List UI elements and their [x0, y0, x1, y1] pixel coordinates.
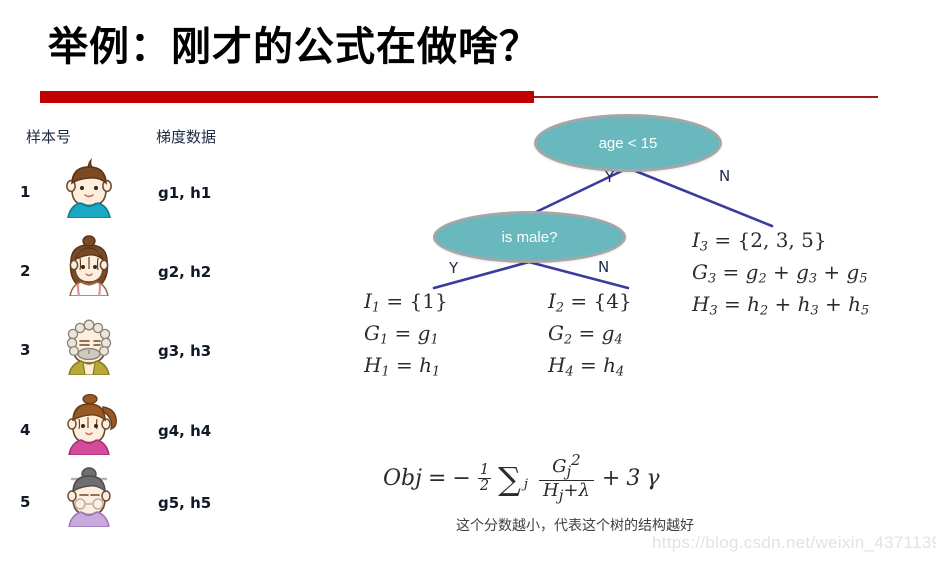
leaf-3-sum-g: g2 + g3 + g5 [746, 260, 868, 284]
tree-node-is-male-label: is male? [502, 229, 558, 246]
girl-avatar [58, 234, 120, 296]
objective-minus: − [452, 466, 470, 491]
edge-label-root-no: N [719, 167, 730, 185]
objective-denominator: Hj+λ [539, 480, 594, 504]
table-row: 4 [20, 421, 30, 439]
tree-node-root[interactable]: age < 15 [534, 114, 722, 172]
leaf-group-1-formula: I1 = {1} G1 = g1 H1 = h1 [364, 286, 448, 382]
objective-numerator: Gj2 [548, 452, 585, 480]
edge-label-child-no: N [598, 258, 609, 276]
leaf-3-line-3: H3 = h2 + h3 + h5 [692, 289, 869, 321]
slide-canvas: 举例：刚才的公式在做啥？ 样本号 梯度数据 1 g1, h1 2 [0, 0, 936, 561]
leaf-1-line-3: H1 = h1 [364, 350, 448, 382]
leaf-2-line-2: G2 = g4 [548, 318, 632, 350]
boy-avatar [58, 156, 120, 218]
column-header-sample-id: 样本号 [26, 126, 71, 147]
leaf-3-line-1: I3 = {2, 3, 5} [692, 225, 869, 257]
objective-caption: 这个分数越小，代表这个树的结构越好 [456, 515, 694, 535]
tree-node-is-male[interactable]: is male? [433, 211, 626, 263]
table-row: 5 [20, 493, 30, 511]
leaf-3-sum-h: h2 + h3 + h5 [747, 292, 869, 316]
objective-main-fraction: Gj2 Hj+λ [539, 452, 594, 505]
gradient-value: g4, h4 [158, 422, 211, 440]
title-underline-accent [40, 91, 534, 103]
gradient-value: g3, h3 [158, 342, 211, 360]
table-row: 1 [20, 183, 30, 201]
old-man-avatar [58, 313, 120, 375]
leaf-1-line-1: I1 = {1} [364, 286, 448, 318]
leaf-group-3-formula: I3 = {2, 3, 5} G3 = g2 + g3 + g5 H3 = h2… [692, 225, 869, 321]
leaf-2-line-1: I2 = {4} [548, 286, 632, 318]
leaf-group-2-formula: I2 = {4} G2 = g4 H4 = h4 [548, 286, 632, 382]
gradient-value: g1, h1 [158, 184, 211, 202]
young-woman-avatar [58, 393, 120, 455]
watermark: https://blog.csdn.net/weixin_43711399 [652, 533, 936, 553]
summation-icon: ∑ [498, 460, 521, 498]
edge-label-child-yes: Y [449, 259, 458, 277]
gradient-value: g5, h5 [158, 494, 211, 512]
gamma-symbol: γ [646, 466, 659, 491]
table-row: 2 [20, 262, 30, 280]
objective-lhs: Obj [383, 466, 422, 491]
leaf-1-line-2: G1 = g1 [364, 318, 448, 350]
tree-node-root-label: age < 15 [599, 135, 658, 152]
summation-index: j [524, 477, 528, 492]
leaf-3-line-2: G3 = g2 + g3 + g5 [692, 257, 869, 289]
page-title: 举例：刚才的公式在做啥？ [48, 14, 540, 72]
gradient-value: g2, h2 [158, 263, 211, 281]
edge-label-root-yes: Y [605, 168, 614, 186]
objective-equals: = [428, 466, 446, 491]
objective-formula: Obj = − 1 2 ∑ j Gj2 Hj+λ + 3γ [383, 452, 659, 505]
old-woman-avatar [58, 465, 120, 527]
column-header-gradient: 梯度数据 [156, 126, 216, 147]
objective-half-fraction: 1 2 [478, 463, 491, 494]
gamma-coefficient: 3 [626, 466, 640, 491]
leaf-2-line-3: H4 = h4 [548, 350, 632, 382]
table-row: 3 [20, 341, 30, 359]
objective-plus: + [602, 466, 620, 491]
